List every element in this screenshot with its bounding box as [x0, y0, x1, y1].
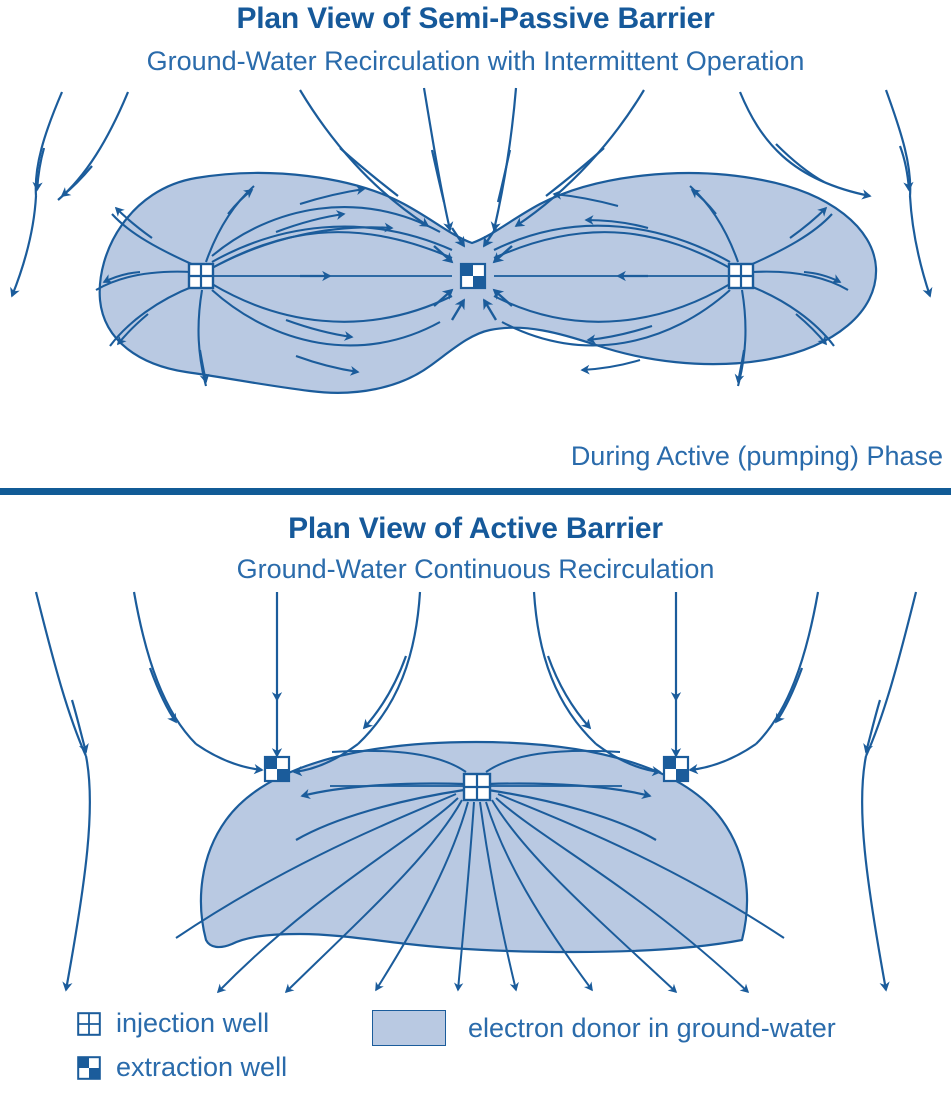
page-title-top: Plan View of Semi-Passive Barrier [0, 2, 951, 36]
extraction-well-icon [76, 1055, 102, 1081]
section-divider [0, 488, 951, 495]
top-diagram [12, 88, 930, 393]
figure-artwork [0, 0, 951, 1093]
legend: injection well extraction well electron … [0, 1008, 951, 1093]
page-title-bottom: Plan View of Active Barrier [0, 512, 951, 546]
legend-label-injection-well: injection well [116, 1008, 269, 1039]
legend-item-electron-donor: electron donor in ground-water [372, 1010, 836, 1046]
injection-well-top-right[interactable] [729, 264, 753, 288]
plume-swatch [372, 1010, 446, 1046]
page-subtitle-bottom: Ground-Water Continuous Recirculation [0, 554, 951, 585]
extraction-well-top-center[interactable] [461, 264, 485, 288]
injection-well-top-left[interactable] [189, 264, 213, 288]
page-subtitle-top: Ground-Water Recirculation with Intermit… [0, 46, 951, 77]
injection-well-bottom-center[interactable] [464, 774, 490, 800]
phase-note: During Active (pumping) Phase [571, 441, 943, 472]
plume-semi-passive [100, 173, 876, 393]
diagram-canvas: Plan View of Semi-Passive Barrier Ground… [0, 0, 951, 1093]
legend-label-extraction-well: extraction well [116, 1052, 287, 1083]
extraction-well-bottom-right[interactable] [664, 757, 688, 781]
injection-well-icon [76, 1011, 102, 1037]
legend-label-electron-donor: electron donor in ground-water [468, 1013, 836, 1044]
legend-item-injection-well: injection well [76, 1008, 269, 1039]
extraction-well-bottom-left[interactable] [265, 757, 289, 781]
legend-item-extraction-well: extraction well [76, 1052, 287, 1083]
